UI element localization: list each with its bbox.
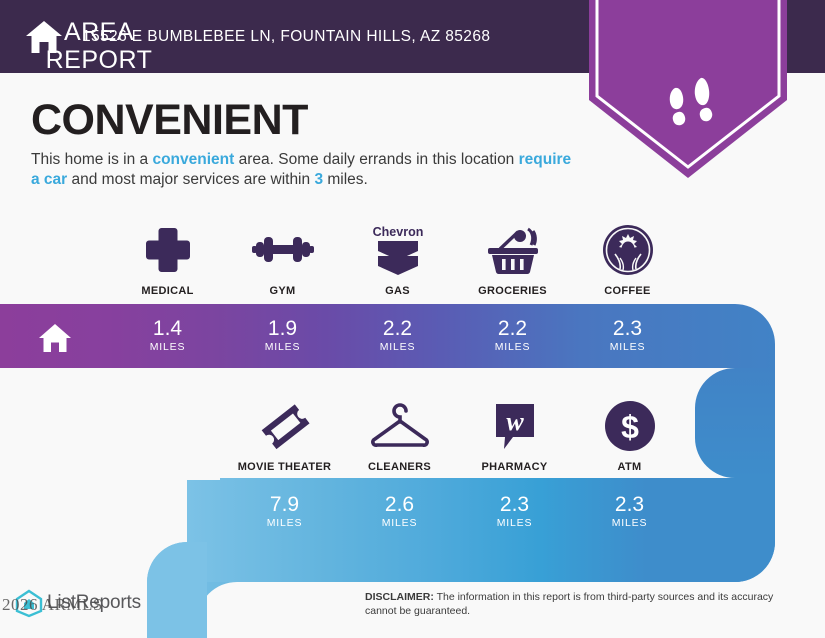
page-title: CONVENIENT bbox=[31, 96, 308, 145]
distance-unit: MILES bbox=[497, 517, 533, 529]
distance-cell: 2.3 MILES bbox=[457, 494, 572, 529]
service-item-cleaners[interactable]: CLEANERS bbox=[342, 398, 457, 473]
distance-value: 1.9 bbox=[268, 318, 297, 340]
desc-highlight-convenient: convenient bbox=[152, 151, 234, 168]
service-item-atm[interactable]: $ ATM bbox=[572, 398, 687, 473]
service-label: GYM bbox=[270, 285, 296, 297]
primary-distances: 1.4 MILES 1.9 MILES 2.2 MILES 2.2 MILES … bbox=[110, 318, 685, 353]
distance-unit: MILES bbox=[380, 341, 416, 353]
desc-text-3: and most major services are within bbox=[67, 171, 314, 188]
distance-unit: MILES bbox=[382, 517, 418, 529]
desc-text-4: miles. bbox=[323, 171, 368, 188]
distance-value: 2.6 bbox=[385, 494, 414, 516]
service-label: GAS bbox=[385, 285, 410, 297]
distance-cell: 7.9 MILES bbox=[227, 494, 342, 529]
desc-text-2: area. Some daily errands in this locatio… bbox=[234, 151, 518, 168]
service-label: COFFEE bbox=[604, 285, 650, 297]
medical-cross-icon bbox=[143, 222, 193, 278]
home-icon bbox=[24, 17, 64, 57]
service-item-groceries[interactable]: GROCERIES bbox=[455, 222, 570, 297]
dumbbell-icon bbox=[252, 222, 314, 278]
distance-unit: MILES bbox=[267, 517, 303, 529]
chevron-gas-logo-icon: Chevron bbox=[371, 222, 425, 278]
walgreens-logo-icon: w bbox=[491, 398, 539, 454]
service-item-movie-theater[interactable]: MOVIE THEATER bbox=[227, 398, 342, 473]
service-item-gas[interactable]: Chevron GAS bbox=[340, 222, 455, 297]
distance-cell: 2.3 MILES bbox=[570, 318, 685, 353]
secondary-distances: 7.9 MILES 2.6 MILES 2.3 MILES 2.3 MILES bbox=[227, 494, 687, 529]
home-icon bbox=[38, 322, 72, 354]
primary-services-icons: MEDICAL GYM Chevron bbox=[110, 222, 685, 297]
service-item-pharmacy[interactable]: w PHARMACY bbox=[457, 398, 572, 473]
distance-value: 2.2 bbox=[498, 318, 527, 340]
distance-cell: 1.4 MILES bbox=[110, 318, 225, 353]
clothes-hanger-icon bbox=[369, 398, 431, 454]
distance-cell: 2.6 MILES bbox=[342, 494, 457, 529]
service-item-gym[interactable]: GYM bbox=[225, 222, 340, 297]
service-item-coffee[interactable]: COFFEE bbox=[570, 222, 685, 297]
movie-ticket-icon bbox=[258, 398, 312, 454]
svg-text:$: $ bbox=[621, 409, 639, 445]
disclaimer: DISCLAIMER: The information in this repo… bbox=[365, 591, 805, 618]
disclaimer-label: DISCLAIMER: bbox=[365, 591, 434, 603]
area-report-page: 15526 E BUMBLEBEE LN, FOUNTAIN HILLS, AZ… bbox=[0, 0, 825, 638]
desc-text-1: This home is in a bbox=[31, 151, 152, 168]
distance-value: 7.9 bbox=[270, 494, 299, 516]
distance-cell: 1.9 MILES bbox=[225, 318, 340, 353]
service-label: PHARMACY bbox=[482, 461, 548, 473]
service-label: CLEANERS bbox=[368, 461, 431, 473]
svg-text:w: w bbox=[506, 407, 524, 436]
service-label: GROCERIES bbox=[478, 285, 547, 297]
service-label: ATM bbox=[618, 461, 642, 473]
distance-cell: 2.2 MILES bbox=[340, 318, 455, 353]
service-label: MEDICAL bbox=[141, 285, 193, 297]
distance-unit: MILES bbox=[495, 341, 531, 353]
dollar-circle-icon: $ bbox=[604, 398, 656, 454]
grocery-basket-icon bbox=[484, 222, 542, 278]
distance-value: 1.4 bbox=[153, 318, 182, 340]
distance-cell: 2.3 MILES bbox=[572, 494, 687, 529]
distance-unit: MILES bbox=[612, 517, 648, 529]
service-label: MOVIE THEATER bbox=[238, 461, 332, 473]
service-item-medical[interactable]: MEDICAL bbox=[110, 222, 225, 297]
distance-unit: MILES bbox=[265, 341, 301, 353]
distance-value: 2.2 bbox=[383, 318, 412, 340]
distance-unit: MILES bbox=[610, 341, 646, 353]
secondary-services-icons: MOVIE THEATER CLEANERS w PHARMACY bbox=[227, 398, 687, 473]
desc-highlight-miles: 3 bbox=[314, 171, 323, 188]
distance-cell: 2.2 MILES bbox=[455, 318, 570, 353]
mls-watermark: 2026 ARMLS bbox=[2, 595, 103, 615]
distance-value: 2.3 bbox=[613, 318, 642, 340]
distance-unit: MILES bbox=[150, 341, 186, 353]
distance-value: 2.3 bbox=[500, 494, 529, 516]
area-report-badge bbox=[589, 0, 787, 182]
distance-value: 2.3 bbox=[615, 494, 644, 516]
page-description: This home is in a convenient area. Some … bbox=[31, 150, 576, 190]
property-address: 15526 E BUMBLEBEE LN, FOUNTAIN HILLS, AZ… bbox=[82, 28, 490, 46]
svg-text:Chevron: Chevron bbox=[372, 225, 423, 239]
starbucks-logo-icon bbox=[602, 222, 654, 278]
